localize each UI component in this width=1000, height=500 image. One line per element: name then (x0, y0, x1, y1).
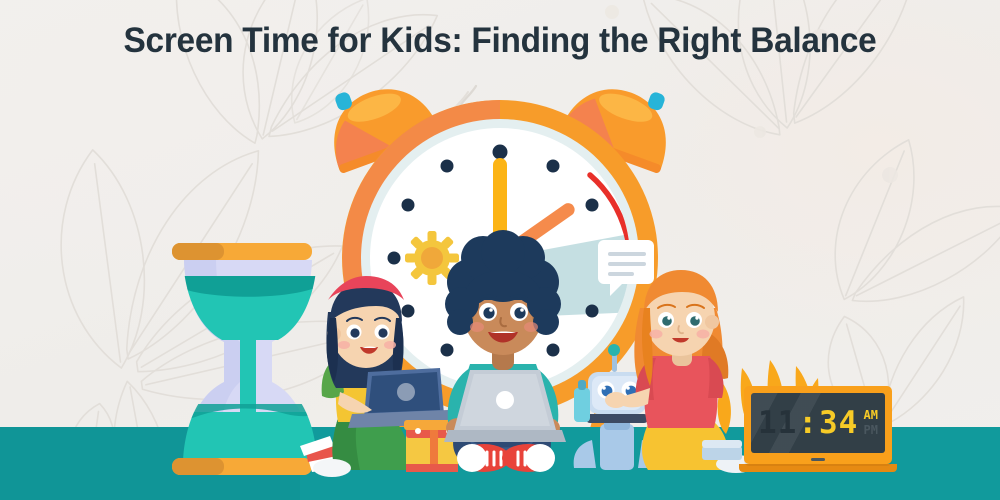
digital-clock-am-label: AM (864, 408, 878, 423)
hero-banner: Screen Time for Kids: Finding the Right … (0, 0, 1000, 500)
digital-clock-meridiem: AM PM (864, 408, 878, 438)
digital-clock-time: 11:34 (758, 408, 858, 439)
digital-clock-minutes: 34 (819, 408, 858, 439)
book-prop (702, 440, 742, 460)
digital-clock-case: 11:34 AM PM (744, 386, 892, 464)
hourglass (172, 243, 320, 475)
banner-title: Screen Time for Kids: Finding the Right … (23, 21, 978, 61)
digital-clock: 11:34 AM PM (744, 386, 897, 472)
digital-clock-separator: : (798, 408, 818, 439)
digital-clock-screen: 11:34 AM PM (751, 393, 885, 453)
digital-clock-hours: 11 (758, 408, 797, 439)
digital-clock-base (739, 464, 897, 472)
digital-clock-button[interactable] (811, 458, 825, 461)
digital-clock-pm-label: PM (864, 423, 878, 438)
